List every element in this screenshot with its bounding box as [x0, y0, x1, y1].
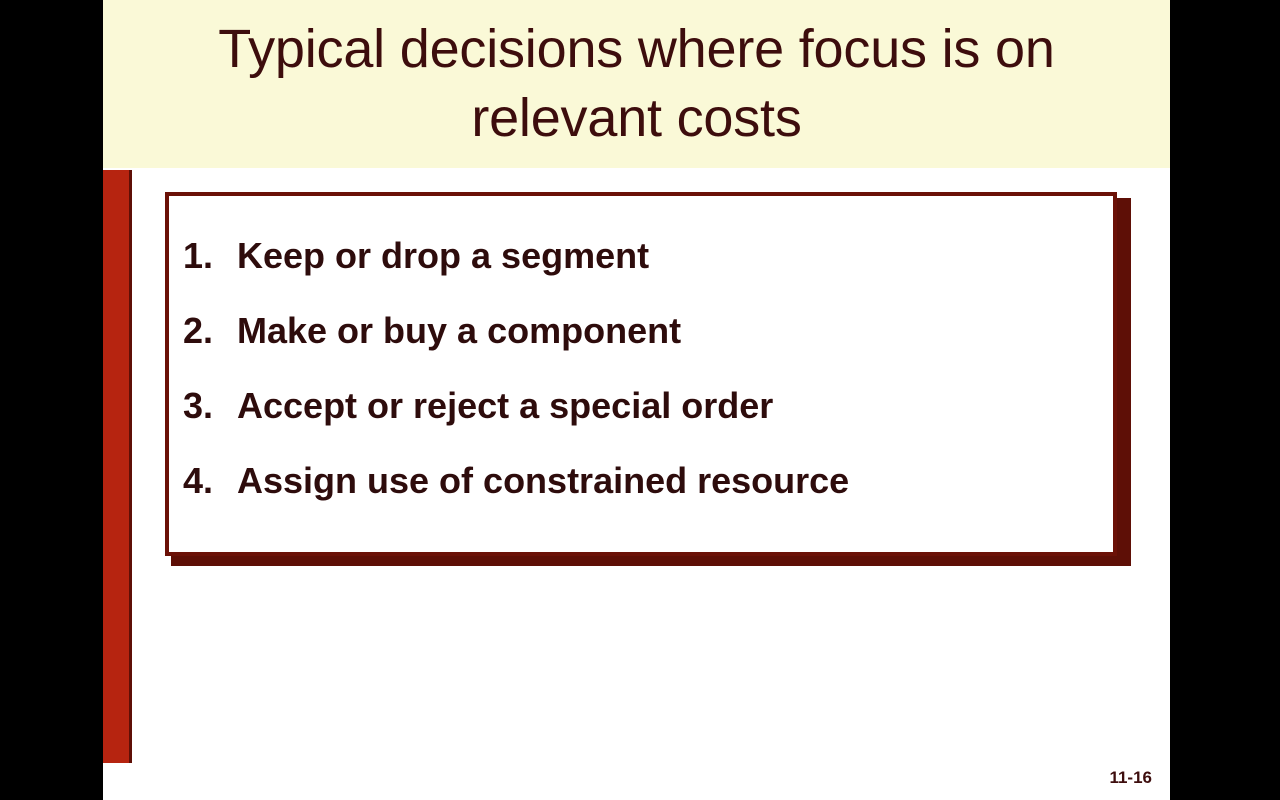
list-item-label: Accept or reject a special order [237, 368, 773, 443]
slide-title-band: Typical decisions where focus is on rele… [103, 0, 1170, 168]
decision-list: 1. Keep or drop a segment 2. Make or buy… [169, 218, 1113, 518]
page-number: 11-16 [1109, 768, 1152, 788]
list-item: 4. Assign use of constrained resource [169, 443, 1113, 518]
list-item: 1. Keep or drop a segment [169, 218, 1113, 293]
list-item: 2. Make or buy a component [169, 293, 1113, 368]
list-item: 3. Accept or reject a special order [169, 368, 1113, 443]
decision-list-box: 1. Keep or drop a segment 2. Make or buy… [165, 192, 1117, 556]
page-title: Typical decisions where focus is on rele… [157, 15, 1117, 153]
slide-stage: Typical decisions where focus is on rele… [103, 0, 1170, 800]
list-item-number: 3. [183, 368, 237, 443]
list-item-label: Assign use of constrained resource [237, 443, 849, 518]
left-accent-bar [103, 170, 132, 763]
slide-body: 1. Keep or drop a segment 2. Make or buy… [103, 168, 1170, 800]
list-item-number: 2. [183, 293, 237, 368]
list-item-label: Keep or drop a segment [237, 218, 649, 293]
list-item-number: 4. [183, 443, 237, 518]
list-item-number: 1. [183, 218, 237, 293]
list-item-label: Make or buy a component [237, 293, 681, 368]
slide-root: Typical decisions where focus is on rele… [0, 0, 1280, 800]
